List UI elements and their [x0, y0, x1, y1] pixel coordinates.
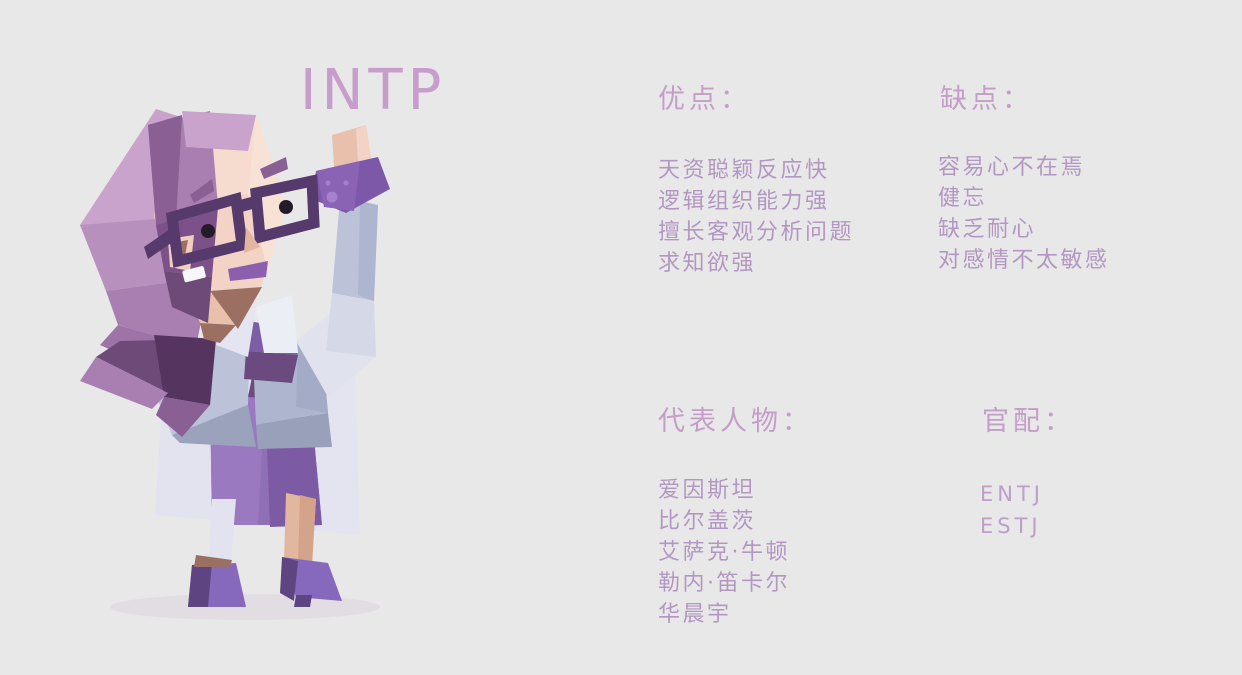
- list-item: ENTJ: [980, 478, 1044, 510]
- flask: [312, 157, 390, 213]
- list-item: ESTJ: [980, 510, 1044, 542]
- weaknesses-heading: 缺点：: [940, 86, 1033, 113]
- list-item: 爱因斯坦: [658, 475, 790, 506]
- pairing-heading: 官配：: [982, 408, 1075, 435]
- list-item: 健忘: [938, 183, 1110, 214]
- figures-heading: 代表人物：: [658, 408, 813, 435]
- list-item: 华晨宇: [658, 599, 790, 630]
- poster-canvas: INTP 优点： 天资聪颖反应快 逻辑组织能力强 擅长客观分析问题 求知欲强 缺…: [0, 0, 1242, 675]
- page-title: INTP: [300, 63, 446, 119]
- strengths-heading: 优点：: [658, 86, 751, 113]
- list-item: 天资聪颖反应快: [658, 155, 854, 186]
- list-item: 容易心不在焉: [938, 152, 1110, 183]
- list-item: 擅长客观分析问题: [658, 217, 854, 248]
- right-pupil: [279, 200, 293, 214]
- list-item: 艾萨克·牛顿: [658, 537, 790, 568]
- list-item: 缺乏耐心: [938, 214, 1110, 245]
- list-item: 对感情不太敏感: [938, 245, 1110, 276]
- list-item: 比尔盖茨: [658, 506, 790, 537]
- strengths-list: 天资聪颖反应快 逻辑组织能力强 擅长客观分析问题 求知欲强: [658, 155, 854, 279]
- list-item: 勒内·笛卡尔: [658, 568, 790, 599]
- low-poly-scientist-illustration: [60, 95, 440, 655]
- character-svg: [60, 95, 440, 655]
- list-item: 逻辑组织能力强: [658, 186, 854, 217]
- figures-list: 爱因斯坦 比尔盖茨 艾萨克·牛顿 勒内·笛卡尔 华晨宇: [658, 475, 790, 630]
- weaknesses-list: 容易心不在焉 健忘 缺乏耐心 对感情不太敏感: [938, 152, 1110, 276]
- pairing-list: ENTJ ESTJ: [980, 478, 1044, 542]
- left-pupil: [201, 224, 215, 238]
- list-item: 求知欲强: [658, 248, 854, 279]
